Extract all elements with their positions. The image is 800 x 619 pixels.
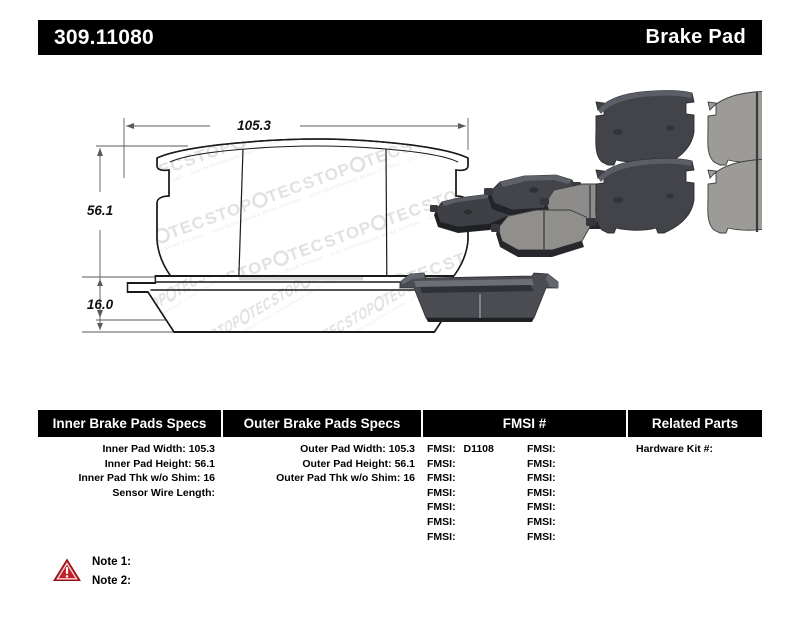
table-body: Inner Pad Width: 105.3 Inner Pad Height:… bbox=[38, 437, 762, 552]
fmsi-value bbox=[456, 501, 461, 513]
fmsi-value bbox=[556, 472, 561, 484]
fmsi-row: FMSI: bbox=[427, 486, 527, 501]
fmsi-row: FMSI: bbox=[427, 471, 527, 486]
fmsi-value bbox=[456, 472, 461, 484]
spec-value: 105.3 bbox=[389, 443, 415, 455]
fmsi-label: FMSI: bbox=[527, 472, 556, 484]
related-part-label: Hardware Kit #: bbox=[636, 443, 713, 455]
product-illustration-area: STOP TECH HIGH PERFORMANCE BRAKE SYSTEMS bbox=[38, 70, 762, 390]
fmsi-label: FMSI: bbox=[427, 458, 456, 470]
fmsi-value bbox=[456, 487, 461, 499]
fmsi-row: FMSI: bbox=[527, 515, 627, 530]
fmsi-label: FMSI: bbox=[427, 531, 456, 543]
fmsi-value bbox=[556, 516, 561, 528]
note-label: Note 2: bbox=[92, 575, 131, 587]
fmsi-label: FMSI: bbox=[527, 531, 556, 543]
spec-row: Inner Pad Height: 56.1 bbox=[38, 457, 223, 472]
fmsi-row: FMSI: D1108 bbox=[427, 442, 527, 457]
fmsi-row: FMSI: bbox=[527, 457, 627, 472]
fmsi-label: FMSI: bbox=[527, 501, 556, 513]
dimension-width-label: 105.3 bbox=[237, 118, 271, 133]
spec-value: 56.1 bbox=[395, 458, 415, 470]
fmsi-label: FMSI: bbox=[427, 472, 456, 484]
spec-label: Inner Pad Thk w/o Shim: bbox=[78, 472, 200, 484]
note-label: Note 1: bbox=[92, 556, 131, 568]
title-bar: 309.11080 Brake Pad bbox=[38, 20, 762, 55]
spec-label: Sensor Wire Length: bbox=[112, 487, 215, 499]
spec-label: Inner Pad Height: bbox=[105, 458, 192, 470]
related-part-row: Hardware Kit #: bbox=[628, 442, 762, 457]
spec-label: Outer Pad Thk w/o Shim: bbox=[276, 472, 400, 484]
dimension-height-label: 56.1 bbox=[87, 203, 113, 218]
spec-row: Inner Pad Width: 105.3 bbox=[38, 442, 223, 457]
fmsi-cell: FMSI: D1108 FMSI: FMSI: FMSI: FMSI: bbox=[423, 442, 628, 552]
column-header-related-parts: Related Parts bbox=[628, 410, 762, 437]
part-number: 309.11080 bbox=[54, 26, 154, 50]
product-type-label: Brake Pad bbox=[645, 26, 746, 49]
fmsi-label: FMSI: bbox=[427, 501, 456, 513]
notes-text-block: Note 1: Note 2: bbox=[92, 553, 131, 591]
fmsi-row: FMSI: bbox=[527, 486, 627, 501]
fmsi-value bbox=[456, 458, 461, 470]
fmsi-value bbox=[556, 458, 561, 470]
fmsi-row: FMSI: bbox=[427, 457, 527, 472]
fmsi-label: FMSI: bbox=[527, 487, 556, 499]
fmsi-value: D1108 bbox=[459, 443, 494, 455]
fmsi-value bbox=[556, 531, 561, 543]
fmsi-value bbox=[456, 516, 461, 528]
fmsi-row: FMSI: bbox=[427, 515, 527, 530]
fmsi-label: FMSI: bbox=[427, 443, 456, 455]
note-row: Note 1: bbox=[92, 553, 131, 572]
fmsi-value bbox=[556, 443, 561, 455]
four-brake-pads-front-back-photo bbox=[596, 91, 762, 233]
spec-label: Outer Pad Width: bbox=[300, 443, 386, 455]
spec-row: Outer Pad Width: 105.3 bbox=[223, 442, 423, 457]
specification-table: Inner Brake Pads Specs Outer Brake Pads … bbox=[38, 410, 762, 552]
notes-section: Note 1: Note 2: bbox=[52, 553, 131, 591]
outer-specs-cell: Outer Pad Width: 105.3 Outer Pad Height:… bbox=[223, 442, 423, 552]
fmsi-column-right: FMSI: FMSI: FMSI: FMSI: FMSI: bbox=[527, 442, 627, 552]
note-row: Note 2: bbox=[92, 572, 131, 591]
spec-value: 56.1 bbox=[195, 458, 215, 470]
fmsi-row: FMSI: bbox=[427, 500, 527, 515]
spec-row: Inner Pad Thk w/o Shim: 16 bbox=[38, 471, 223, 486]
column-header-fmsi: FMSI # bbox=[423, 410, 628, 437]
spec-label: Inner Pad Width: bbox=[102, 443, 185, 455]
spec-value: 105.3 bbox=[189, 443, 215, 455]
fmsi-column-left: FMSI: D1108 FMSI: FMSI: FMSI: FMSI: bbox=[427, 442, 527, 552]
fmsi-label: FMSI: bbox=[427, 516, 456, 528]
spec-row: Outer Pad Height: 56.1 bbox=[223, 457, 423, 472]
spec-row: Outer Pad Thk w/o Shim: 16 bbox=[223, 471, 423, 486]
fmsi-row: FMSI: bbox=[527, 442, 627, 457]
fmsi-row: FMSI: bbox=[527, 500, 627, 515]
spec-row: Sensor Wire Length: bbox=[38, 486, 223, 501]
fmsi-row: FMSI: bbox=[527, 471, 627, 486]
column-header-outer-specs: Outer Brake Pads Specs bbox=[223, 410, 423, 437]
inner-specs-cell: Inner Pad Width: 105.3 Inner Pad Height:… bbox=[38, 442, 223, 552]
spec-value: 16 bbox=[403, 472, 415, 484]
fmsi-row: FMSI: bbox=[427, 530, 527, 545]
fmsi-label: FMSI: bbox=[527, 516, 556, 528]
fmsi-label: FMSI: bbox=[527, 458, 556, 470]
fmsi-row: FMSI: bbox=[527, 530, 627, 545]
column-header-inner-specs: Inner Brake Pads Specs bbox=[38, 410, 223, 437]
fmsi-value bbox=[556, 487, 561, 499]
spec-value: 16 bbox=[203, 472, 215, 484]
warning-triangle-icon bbox=[52, 557, 82, 583]
fmsi-value bbox=[556, 501, 561, 513]
table-header-row: Inner Brake Pads Specs Outer Brake Pads … bbox=[38, 410, 762, 437]
fmsi-label: FMSI: bbox=[427, 487, 456, 499]
spec-label: Outer Pad Height: bbox=[302, 458, 391, 470]
fmsi-label: FMSI: bbox=[527, 443, 556, 455]
dimension-thickness-label: 16.0 bbox=[87, 297, 114, 312]
related-parts-cell: Hardware Kit #: bbox=[628, 442, 762, 552]
fmsi-value bbox=[456, 531, 461, 543]
